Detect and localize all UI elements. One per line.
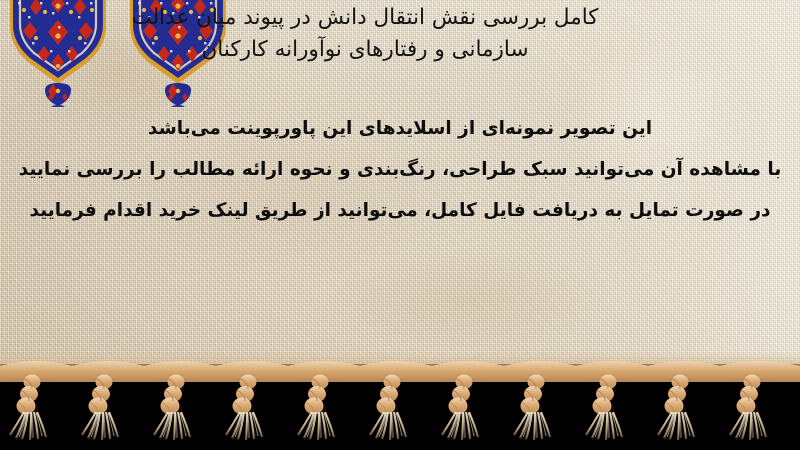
body-line-1: این تصویر نمونه‌ای از اسلایدهای این پاور…	[0, 108, 800, 149]
slide-title: کامل بررسی نقش انتقال دانش در پیوند میان…	[0, 2, 800, 66]
slide-body: این تصویر نمونه‌ای از اسلایدهای این پاور…	[0, 108, 800, 231]
bottom-black-band	[0, 364, 800, 450]
slide-canvas: کامل بررسی نقش انتقال دانش در پیوند میان…	[0, 0, 800, 450]
body-line-3: در صورت تمایل به دریافت فایل کامل، می‌تو…	[0, 190, 800, 231]
title-line-2: سازمانی و رفتارهای نوآورانه کارکنان	[0, 34, 730, 66]
body-line-2: با مشاهده آن می‌توانید سبک طراحی، رنگ‌بن…	[0, 149, 800, 190]
title-line-1: کامل بررسی نقش انتقال دانش در پیوند میان…	[0, 2, 730, 34]
